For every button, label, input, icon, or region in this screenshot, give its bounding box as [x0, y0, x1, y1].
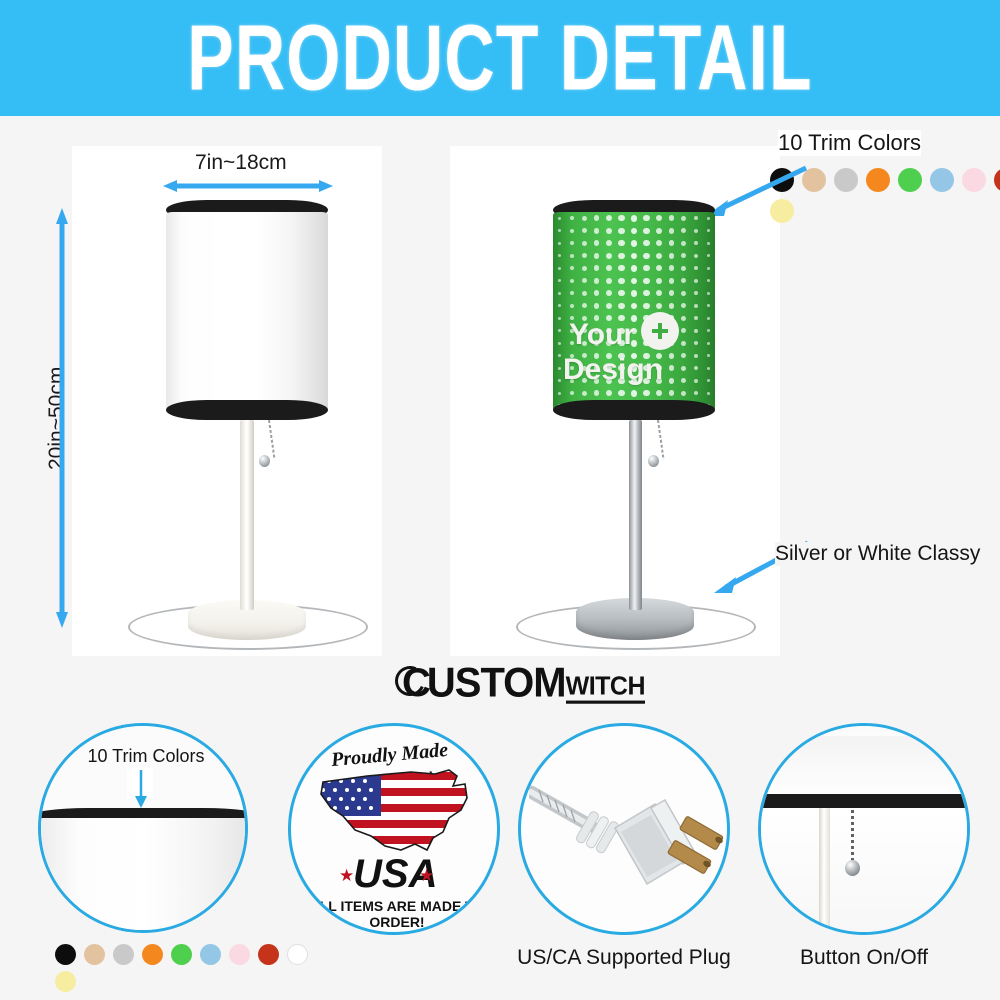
dot	[707, 242, 710, 245]
dot	[594, 290, 600, 296]
shade-body-right: Your Design	[553, 212, 715, 412]
dot	[707, 367, 710, 370]
dot	[582, 278, 587, 283]
dot	[606, 215, 612, 221]
dot	[582, 253, 587, 258]
swatch-green[interactable]	[898, 168, 922, 192]
dot	[643, 303, 649, 309]
design-text-line2: Design	[563, 355, 663, 385]
dot	[631, 390, 638, 397]
dot	[582, 228, 587, 233]
swatch-orange[interactable]	[866, 168, 890, 192]
star-right-icon: ★	[419, 866, 434, 886]
page-title: PRODUCT DETAIL	[187, 5, 812, 111]
dot	[643, 265, 649, 271]
dot	[631, 265, 638, 272]
dot	[681, 391, 686, 396]
dot	[669, 278, 675, 284]
dot	[707, 392, 710, 395]
dot	[606, 253, 612, 259]
dot	[694, 241, 698, 245]
swatch-light-blue[interactable]	[200, 944, 221, 965]
dot	[669, 290, 675, 296]
dot	[631, 253, 638, 260]
dot	[643, 228, 649, 234]
dot	[618, 265, 624, 271]
brand-logo: C USTOM WITCH	[398, 663, 645, 703]
swatch-pink[interactable]	[962, 168, 986, 192]
dot	[707, 354, 710, 357]
dot	[694, 354, 698, 358]
dot	[694, 366, 698, 370]
dot	[669, 365, 675, 371]
dot	[656, 215, 662, 221]
dot	[570, 229, 574, 233]
dot	[582, 216, 587, 221]
dot	[558, 392, 561, 395]
dot	[558, 229, 561, 232]
dot	[681, 353, 686, 358]
dot	[669, 378, 675, 384]
dot	[631, 228, 638, 235]
dot	[694, 229, 698, 233]
dot	[681, 378, 686, 383]
dot	[681, 316, 686, 321]
swatch-white[interactable]	[287, 944, 308, 965]
dot	[558, 292, 561, 295]
dot	[594, 240, 600, 246]
dot	[669, 215, 675, 221]
feature-circle-plug	[518, 723, 730, 935]
dot	[594, 390, 600, 396]
dot	[694, 304, 698, 308]
dot	[694, 341, 698, 345]
swatch-gray[interactable]	[834, 168, 858, 192]
dot	[643, 240, 649, 246]
dot	[558, 304, 561, 307]
feature-switch-label: Button On/Off	[758, 946, 970, 970]
dot	[570, 266, 574, 270]
width-dimension-label: 7in~18cm	[190, 150, 292, 176]
logo-sub-text: WITCH	[566, 673, 645, 703]
dot	[656, 240, 662, 246]
dot	[643, 278, 649, 284]
dot	[681, 278, 686, 283]
dot	[570, 241, 574, 245]
dot	[681, 303, 686, 308]
feature-circle-trim-colors: 10 Trim Colors	[38, 723, 248, 933]
dot	[606, 303, 612, 309]
dot	[606, 390, 612, 396]
dot	[594, 265, 600, 271]
swatch-red[interactable]	[994, 168, 1000, 192]
lamp-shade-body-icon	[38, 818, 248, 933]
dot	[681, 241, 686, 246]
dot	[669, 390, 675, 396]
dot	[643, 290, 649, 296]
dot	[606, 290, 612, 296]
pull-chain-ball-icon[interactable]	[845, 860, 860, 876]
dot	[618, 390, 624, 396]
dot	[707, 217, 710, 220]
dot	[681, 328, 686, 333]
dot	[643, 253, 649, 259]
dot	[631, 215, 638, 222]
dot	[558, 379, 561, 382]
lamp-pole-icon	[819, 808, 830, 928]
dot	[694, 254, 698, 258]
lamp-shade-right: Your Design	[553, 200, 715, 425]
dot	[618, 303, 624, 309]
dot	[558, 254, 561, 257]
swatch-tan[interactable]	[84, 944, 105, 965]
dot	[656, 265, 662, 271]
dot	[558, 342, 561, 345]
dot	[656, 303, 662, 309]
dot	[707, 342, 710, 345]
dot	[606, 240, 612, 246]
dot	[656, 390, 662, 396]
dot	[558, 367, 561, 370]
dot	[707, 329, 710, 332]
page-banner: PRODUCT DETAIL	[0, 0, 1000, 116]
dot	[681, 291, 686, 296]
dot	[570, 291, 574, 295]
dot	[606, 265, 612, 271]
dot	[656, 228, 662, 234]
width-dimension-arrow	[163, 176, 333, 196]
dot	[558, 354, 561, 357]
dot	[582, 291, 587, 296]
dot	[558, 217, 561, 220]
dot	[681, 216, 686, 221]
dot	[558, 317, 561, 320]
dot	[582, 303, 587, 308]
dot	[656, 253, 662, 259]
dot	[669, 303, 675, 309]
feature-trim-colors-inside-label: 10 Trim Colors	[41, 746, 248, 767]
dot	[694, 379, 698, 383]
swatch-gray[interactable]	[113, 944, 134, 965]
pull-chain-icon[interactable]	[851, 810, 854, 864]
dot	[681, 228, 686, 233]
swatch-pink[interactable]	[229, 944, 250, 965]
swatch-red[interactable]	[258, 944, 279, 965]
logo-c-mark: C	[398, 663, 427, 703]
swatch-green[interactable]	[171, 944, 192, 965]
dot	[681, 366, 686, 371]
dot	[570, 216, 574, 220]
dot	[606, 228, 612, 234]
swatch-light-blue[interactable]	[930, 168, 954, 192]
dot	[606, 278, 612, 284]
dot	[694, 316, 698, 320]
dot	[707, 292, 710, 295]
height-dimension-arrow	[52, 208, 72, 628]
feature-circle-made-in-usa: Proudly Made in the	[288, 723, 500, 935]
dot	[694, 391, 698, 395]
dot	[558, 267, 561, 270]
star-left-icon: ★	[339, 866, 354, 886]
dot	[669, 265, 675, 271]
dot	[618, 290, 624, 296]
logo-main-text: USTOM	[427, 662, 566, 704]
dot	[570, 391, 574, 395]
dot	[631, 240, 638, 247]
dot	[681, 266, 686, 271]
dot	[558, 329, 561, 332]
dot	[594, 228, 600, 234]
dot	[694, 291, 698, 295]
trim-colors-label-top: 10 Trim Colors	[778, 130, 921, 156]
dot	[669, 228, 675, 234]
dot	[631, 278, 638, 285]
dot	[582, 241, 587, 246]
dot	[582, 266, 587, 271]
dot	[707, 317, 710, 320]
shade-trim-bottom-left	[166, 400, 328, 420]
lamp-pole-left	[240, 420, 254, 610]
dot	[594, 303, 600, 309]
dot	[618, 228, 624, 234]
dot	[707, 229, 710, 232]
dot	[631, 303, 638, 310]
shade-trim-bottom-right	[553, 400, 715, 420]
dot	[707, 254, 710, 257]
dot	[694, 216, 698, 220]
dot	[618, 215, 624, 221]
dot	[669, 240, 675, 246]
trim-color-swatches-bottom-row-2[interactable]	[55, 971, 76, 992]
base-finish-label: Silver or White Classy	[775, 542, 980, 566]
plus-circle-icon	[641, 312, 679, 350]
design-text-line1: Your	[569, 320, 635, 350]
dot	[707, 379, 710, 382]
dot	[594, 278, 600, 284]
dot	[694, 279, 698, 283]
dot	[558, 279, 561, 282]
dot	[707, 279, 710, 282]
dot	[681, 341, 686, 346]
lamp-pole-right	[629, 420, 642, 610]
dot	[694, 329, 698, 333]
product-detail-page: PRODUCT DETAIL 10 Trim Colors 7in~18cm 2…	[0, 0, 1000, 1000]
dot	[618, 278, 624, 284]
dot	[582, 391, 587, 396]
shade-edge-icon	[758, 736, 970, 796]
feature-circle-switch	[758, 723, 970, 935]
dot	[594, 215, 600, 221]
dot	[643, 215, 649, 221]
shade-trim-icon	[758, 794, 970, 808]
swatch-orange[interactable]	[142, 944, 163, 965]
dot	[558, 242, 561, 245]
dot	[618, 253, 624, 259]
dot	[656, 290, 662, 296]
trim-colors-down-arrow-icon	[127, 768, 157, 810]
lamp-shade-left	[166, 200, 328, 425]
dot	[594, 253, 600, 259]
usa-flag-map-icon	[315, 764, 477, 864]
dot	[669, 253, 675, 259]
dot	[570, 304, 574, 308]
dot	[656, 278, 662, 284]
shade-body-left	[166, 212, 328, 412]
swatch-black[interactable]	[55, 944, 76, 965]
dot	[618, 240, 624, 246]
feature-plug-label: US/CA Supported Plug	[500, 946, 748, 970]
usa-subtitle: ALL ITEMS ARE MADE TO ORDER!	[303, 898, 491, 930]
dot	[681, 253, 686, 258]
dot	[694, 266, 698, 270]
power-plug-icon	[529, 774, 729, 904]
dot	[570, 279, 574, 283]
dot	[570, 254, 574, 258]
dot	[669, 353, 675, 359]
dot	[643, 390, 649, 396]
dot	[707, 304, 710, 307]
swatch-yellow[interactable]	[55, 971, 76, 992]
trim-color-swatches-bottom-row-1[interactable]	[55, 944, 308, 965]
dot	[631, 290, 638, 297]
dot	[707, 267, 710, 270]
